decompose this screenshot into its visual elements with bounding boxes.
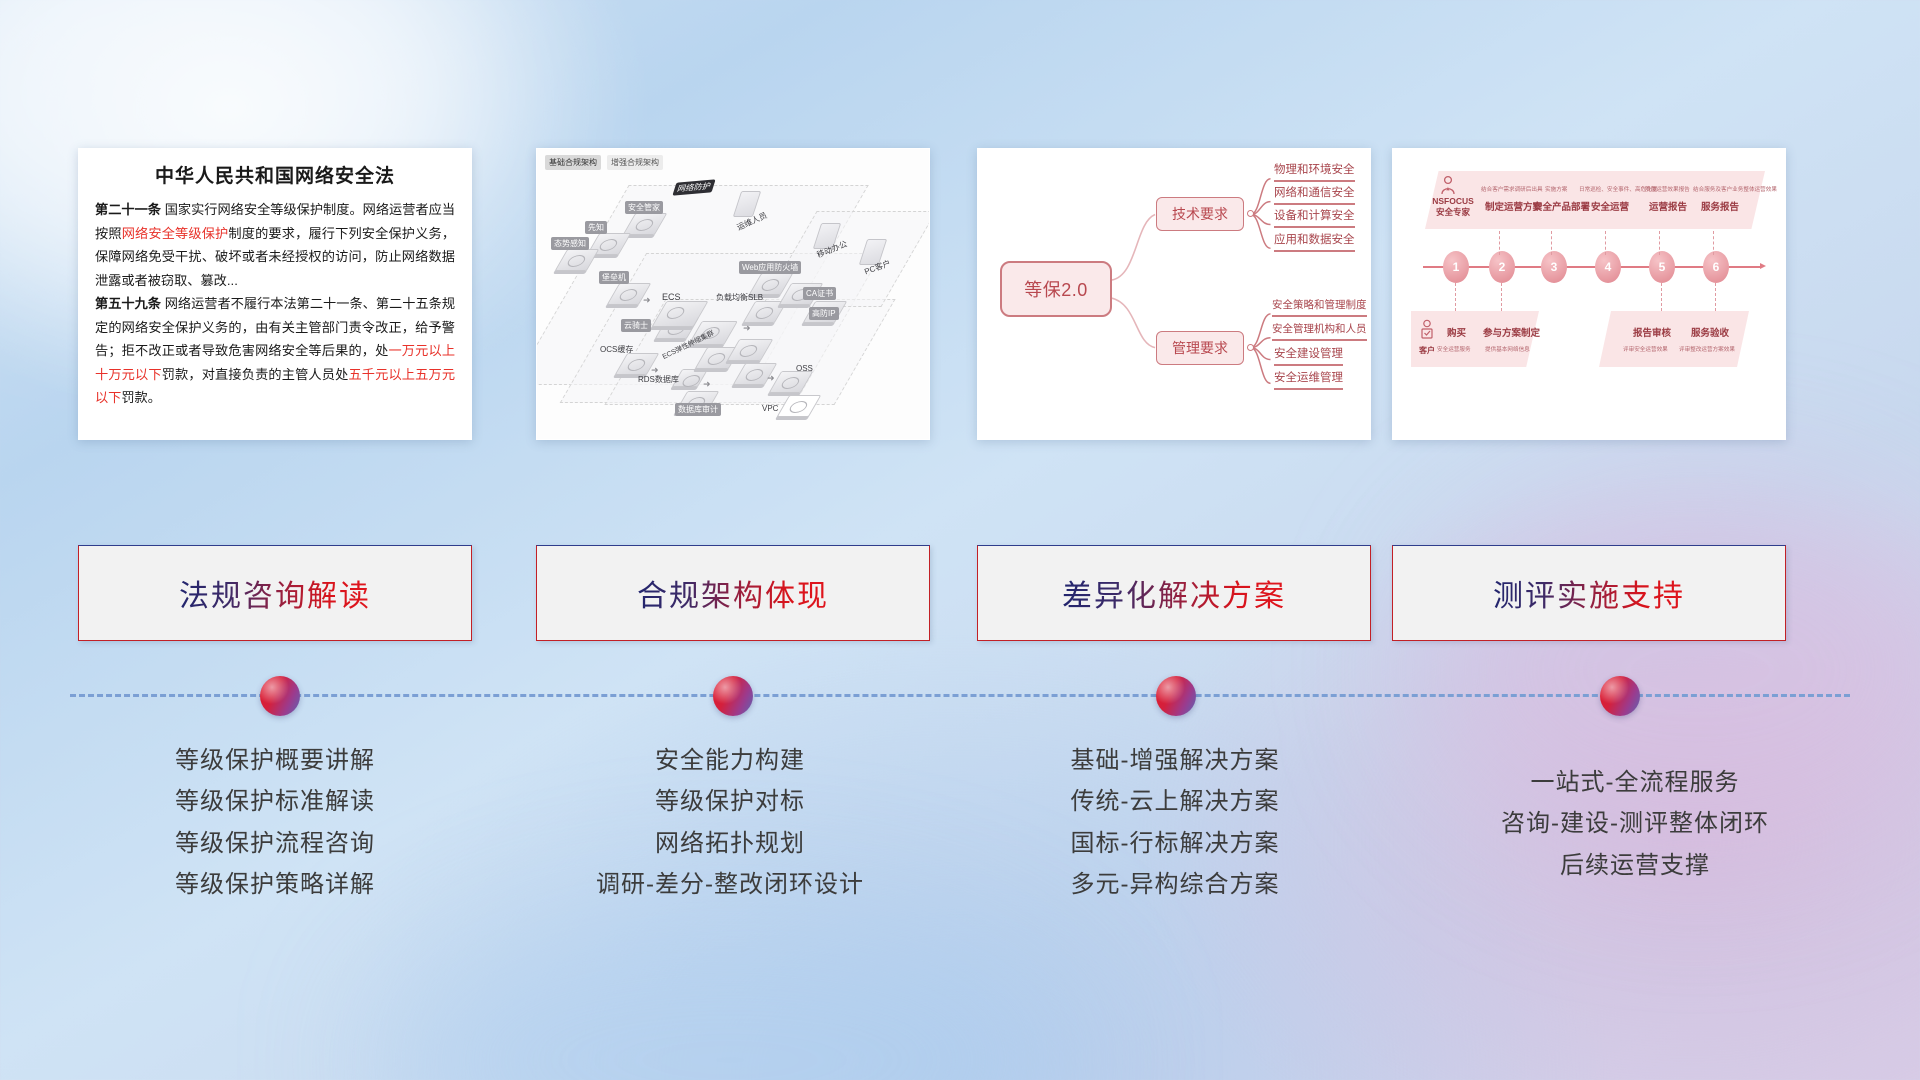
detail-column-2: 安全能力构建 等级保护对标 网络拓扑规划 调研-差分-整改闭环设计 bbox=[520, 740, 940, 905]
detail-item: 网络拓扑规划 bbox=[520, 823, 940, 864]
detail-item: 咨询-建设-测评整体闭环 bbox=[1400, 803, 1870, 844]
timeline bbox=[70, 694, 1850, 698]
category-label-3[interactable]: 差异化解决方案 bbox=[977, 545, 1371, 641]
detail-item: 多元-异构综合方案 bbox=[960, 864, 1390, 905]
mindmap-leaf-mgmt-2: 安全建设管理 bbox=[1274, 345, 1343, 366]
flow-sub-6: 结合服务及客户业务整体运营效果 bbox=[1693, 185, 1777, 193]
label-waf: Web应用防火墙 bbox=[739, 261, 801, 274]
node-ocs-cache bbox=[621, 353, 653, 375]
article-59-label: 第五十九条 bbox=[95, 296, 161, 311]
tab-enhanced-architecture[interactable]: 增强合规架构 bbox=[607, 155, 663, 170]
customer-sub-4: 评审整改运营方案效果 bbox=[1679, 345, 1735, 353]
node-ecs-instance-c bbox=[733, 339, 767, 361]
arrow-cache-to-db: ➜ bbox=[651, 365, 659, 376]
architecture-diagram: 基础合规架构 增强合规架构 网络防护 安全管家 先知 态势感知 堡垒机 云骑士 bbox=[537, 149, 929, 439]
customer-title-4: 服务验收 bbox=[1691, 325, 1729, 339]
label-vpc: VPC bbox=[759, 403, 781, 414]
category-label-4[interactable]: 测评实施支持 bbox=[1392, 545, 1786, 641]
label-anti-ddos-ip: 高防IP bbox=[809, 307, 839, 320]
customer-sub-2: 提供基本网络信息 bbox=[1485, 345, 1530, 353]
flow-title-3: 安全产品部署 bbox=[1533, 199, 1590, 213]
detail-column-4: 一站式-全流程服务 咨询-建设-测评整体闭环 后续运营支撑 bbox=[1400, 762, 1870, 886]
law-article-59: 第五十九条 网络运营者不履行本法第二十一条、第二十五条规定的网络安全保护义务的，… bbox=[95, 292, 455, 410]
detail-item: 国标-行标解决方案 bbox=[960, 823, 1390, 864]
flow-step-dot-3[interactable]: 3 bbox=[1541, 251, 1567, 283]
category-label-row: 法规咨询解读 合规架构体现 差异化解决方案 测评实施支持 bbox=[0, 545, 1920, 647]
article-59-text-c: 罚款。 bbox=[121, 390, 161, 405]
detail-item: 基础-增强解决方案 bbox=[960, 740, 1390, 781]
law-article-21: 第二十一条 国家实行网络安全等级保护制度。网络运营者应当按照网络安全等级保护制度… bbox=[95, 198, 455, 292]
category-label-2-text: 合规架构体现 bbox=[637, 571, 829, 615]
flow-step-dot-1[interactable]: 1 bbox=[1443, 251, 1469, 283]
article-59-text-b: 罚款，对直接负责的主管人员处 bbox=[162, 367, 349, 382]
flow-title-4: 安全运营 bbox=[1591, 199, 1629, 213]
article-21-highlight: 网络安全等级保护 bbox=[122, 226, 229, 241]
slide-stage: 中华人民共和国网络安全法 第二十一条 国家实行网络安全等级保护制度。网络运营者应… bbox=[0, 0, 1920, 1080]
label-bastion-host: 堡垒机 bbox=[599, 271, 629, 284]
flow-connector-4 bbox=[1605, 231, 1606, 255]
category-label-1-text: 法规咨询解读 bbox=[179, 571, 371, 615]
card-cybersecurity-law: 中华人民共和国网络安全法 第二十一条 国家实行网络安全等级保护制度。网络运营者应… bbox=[78, 148, 472, 440]
label-cloud-knight: 云骑士 bbox=[621, 319, 651, 332]
flow-sub-3: 实施方案 bbox=[1545, 185, 1567, 193]
flow-connector-c2 bbox=[1501, 283, 1502, 311]
svg-text:★: ★ bbox=[1445, 186, 1450, 193]
mindmap-knob-technical[interactable] bbox=[1247, 210, 1254, 217]
flow-step-dot-4[interactable]: 4 bbox=[1595, 251, 1621, 283]
detail-item: 调研-差分-整改闭环设计 bbox=[520, 864, 940, 905]
detail-item: 传统-云上解决方案 bbox=[960, 781, 1390, 822]
mindmap-leaf-tech-3: 应用和数据安全 bbox=[1274, 231, 1355, 252]
timeline-dot-1[interactable] bbox=[260, 676, 300, 716]
category-label-2[interactable]: 合规架构体现 bbox=[536, 545, 930, 641]
flow-connector-6 bbox=[1713, 231, 1714, 255]
detail-item: 等级保护概要讲解 bbox=[78, 740, 472, 781]
detail-item: 等级保护策略详解 bbox=[78, 864, 472, 905]
category-label-4-text: 测评实施支持 bbox=[1493, 571, 1685, 615]
law-title: 中华人民共和国网络安全法 bbox=[95, 161, 455, 188]
law-text-block: 中华人民共和国网络安全法 第二十一条 国家实行网络安全等级保护制度。网络运营者应… bbox=[79, 149, 471, 420]
customer-sub-3: 评审安全运营效果 bbox=[1623, 345, 1668, 353]
label-slb: 负载均衡SLB bbox=[713, 291, 766, 304]
flow-title-5: 运营报告 bbox=[1649, 199, 1687, 213]
tab-basic-architecture[interactable]: 基础合规架构 bbox=[545, 155, 601, 170]
flow-title-6: 服务报告 bbox=[1701, 199, 1739, 213]
flow-actor-expert: NSFOCUS安全专家 bbox=[1425, 196, 1481, 218]
detail-column-3: 基础-增强解决方案 传统-云上解决方案 国标-行标解决方案 多元-异构综合方案 bbox=[960, 740, 1390, 905]
flow-band-customer-right bbox=[1599, 311, 1749, 367]
architecture-tabs: 基础合规架构 增强合规架构 bbox=[545, 155, 663, 170]
arrow-slb-to-cluster: ➜ bbox=[743, 323, 751, 334]
detail-column-row: 等级保护概要讲解 等级保护标准解读 等级保护流程咨询 等级保护策略详解 安全能力… bbox=[0, 740, 1920, 990]
detail-item: 等级保护标准解读 bbox=[78, 781, 472, 822]
label-security-butler: 安全管家 bbox=[625, 201, 663, 214]
flow-connector-c3 bbox=[1661, 283, 1662, 311]
label-ocs-cache: OCS缓存 bbox=[597, 343, 636, 356]
detail-item: 一站式-全流程服务 bbox=[1400, 762, 1870, 803]
timeline-dot-2[interactable] bbox=[713, 676, 753, 716]
mindmap-root: 等保2.0 bbox=[1000, 261, 1112, 317]
mindmap-knob-management[interactable] bbox=[1247, 344, 1254, 351]
article-21-label: 第二十一条 bbox=[95, 202, 161, 217]
flow-step-dot-5[interactable]: 5 bbox=[1649, 251, 1675, 283]
arrow-db-to-audit: ➜ bbox=[703, 379, 711, 390]
mindmap-leaf-mgmt-3: 安全运维管理 bbox=[1274, 369, 1343, 390]
detail-item: 安全能力构建 bbox=[520, 740, 940, 781]
image-card-row: 中华人民共和国网络安全法 第二十一条 国家实行网络安全等级保护制度。网络运营者应… bbox=[0, 148, 1920, 448]
label-xianzhi: 先知 bbox=[585, 221, 607, 234]
flow-step-dot-6[interactable]: 6 bbox=[1703, 251, 1729, 283]
detail-column-1: 等级保护概要讲解 等级保护标准解读 等级保护流程咨询 等级保护策略详解 bbox=[78, 740, 472, 905]
timeline-dot-3[interactable] bbox=[1156, 676, 1196, 716]
mindmap-leaf-tech-1: 网络和通信安全 bbox=[1274, 184, 1355, 205]
mindmap-branch-management: 管理要求 bbox=[1156, 331, 1244, 365]
card-service-flow: ★ NSFOCUS安全专家 客户 1 2 3 4 5 6 结合客户需求调研后出具… bbox=[1392, 148, 1786, 440]
customer-avatar-icon bbox=[1419, 319, 1435, 346]
category-label-1[interactable]: 法规咨询解读 bbox=[78, 545, 472, 641]
label-ecs: ECS bbox=[659, 291, 684, 303]
flow-connector-2 bbox=[1499, 231, 1500, 255]
card-mindmap-dengbao: 等保2.0 技术要求 管理要求 物理和环境安全 网络和通信安全 设备和计算安全 … bbox=[977, 148, 1371, 440]
arrow-bastion-to-ecs: ➜ bbox=[643, 295, 651, 306]
detail-item: 后续运营支撑 bbox=[1400, 845, 1870, 886]
mindmap-leaf-tech-2: 设备和计算安全 bbox=[1274, 207, 1355, 228]
mindmap-leaf-mgmt-0: 安全策略和管理制度 bbox=[1272, 297, 1367, 317]
flow-connector-c1 bbox=[1455, 283, 1456, 311]
card-cloud-architecture: 基础合规架构 增强合规架构 网络防护 安全管家 先知 态势感知 堡垒机 云骑士 bbox=[536, 148, 930, 440]
customer-title-2: 参与方案制定 bbox=[1483, 325, 1540, 339]
timeline-dot-4[interactable] bbox=[1600, 676, 1640, 716]
arrow-to-oss: ➜ bbox=[767, 373, 775, 384]
flow-sub-5: 阶段运营效果报告 bbox=[1645, 185, 1690, 193]
mindmap-leaf-tech-0: 物理和环境安全 bbox=[1274, 161, 1355, 182]
flow-connector-c4 bbox=[1715, 283, 1716, 311]
node-oss bbox=[775, 371, 807, 393]
node-bastion-host bbox=[613, 283, 645, 305]
detail-item: 等级保护对标 bbox=[520, 781, 940, 822]
mindmap-leaf-mgmt-1: 安全管理机构和人员 bbox=[1272, 321, 1367, 341]
customer-title-1: 购买 bbox=[1447, 325, 1466, 339]
label-db-audit: 数据库审计 bbox=[675, 403, 721, 416]
node-slb bbox=[749, 301, 781, 323]
mindmap-branch-technical: 技术要求 bbox=[1156, 197, 1244, 231]
mindmap-diagram: 等保2.0 技术要求 管理要求 物理和环境安全 网络和通信安全 设备和计算安全 … bbox=[978, 149, 1370, 439]
detail-item: 等级保护流程咨询 bbox=[78, 823, 472, 864]
flow-sub-2: 结合客户需求调研后出具 bbox=[1481, 185, 1543, 193]
category-label-3-text: 差异化解决方案 bbox=[1062, 571, 1286, 615]
flow-step-dot-2[interactable]: 2 bbox=[1489, 251, 1515, 283]
customer-sub-1: 安全运营服务 bbox=[1437, 345, 1471, 353]
label-oss: OSS bbox=[793, 363, 816, 374]
flow-actor-customer: 客户 bbox=[1419, 345, 1435, 356]
node-security-butler bbox=[629, 213, 661, 235]
label-situation-awareness: 态势感知 bbox=[551, 237, 589, 250]
service-flow-diagram: ★ NSFOCUS安全专家 客户 1 2 3 4 5 6 结合客户需求调研后出具… bbox=[1393, 149, 1785, 439]
label-ca-cert: CA证书 bbox=[803, 287, 836, 300]
timeline-dashed-line bbox=[70, 694, 1850, 697]
customer-title-3: 报告审核 bbox=[1633, 325, 1671, 339]
flow-connector-5 bbox=[1659, 231, 1660, 255]
node-situation-awareness bbox=[561, 249, 593, 271]
flow-connector-3 bbox=[1551, 231, 1552, 255]
node-vpc bbox=[783, 395, 815, 417]
